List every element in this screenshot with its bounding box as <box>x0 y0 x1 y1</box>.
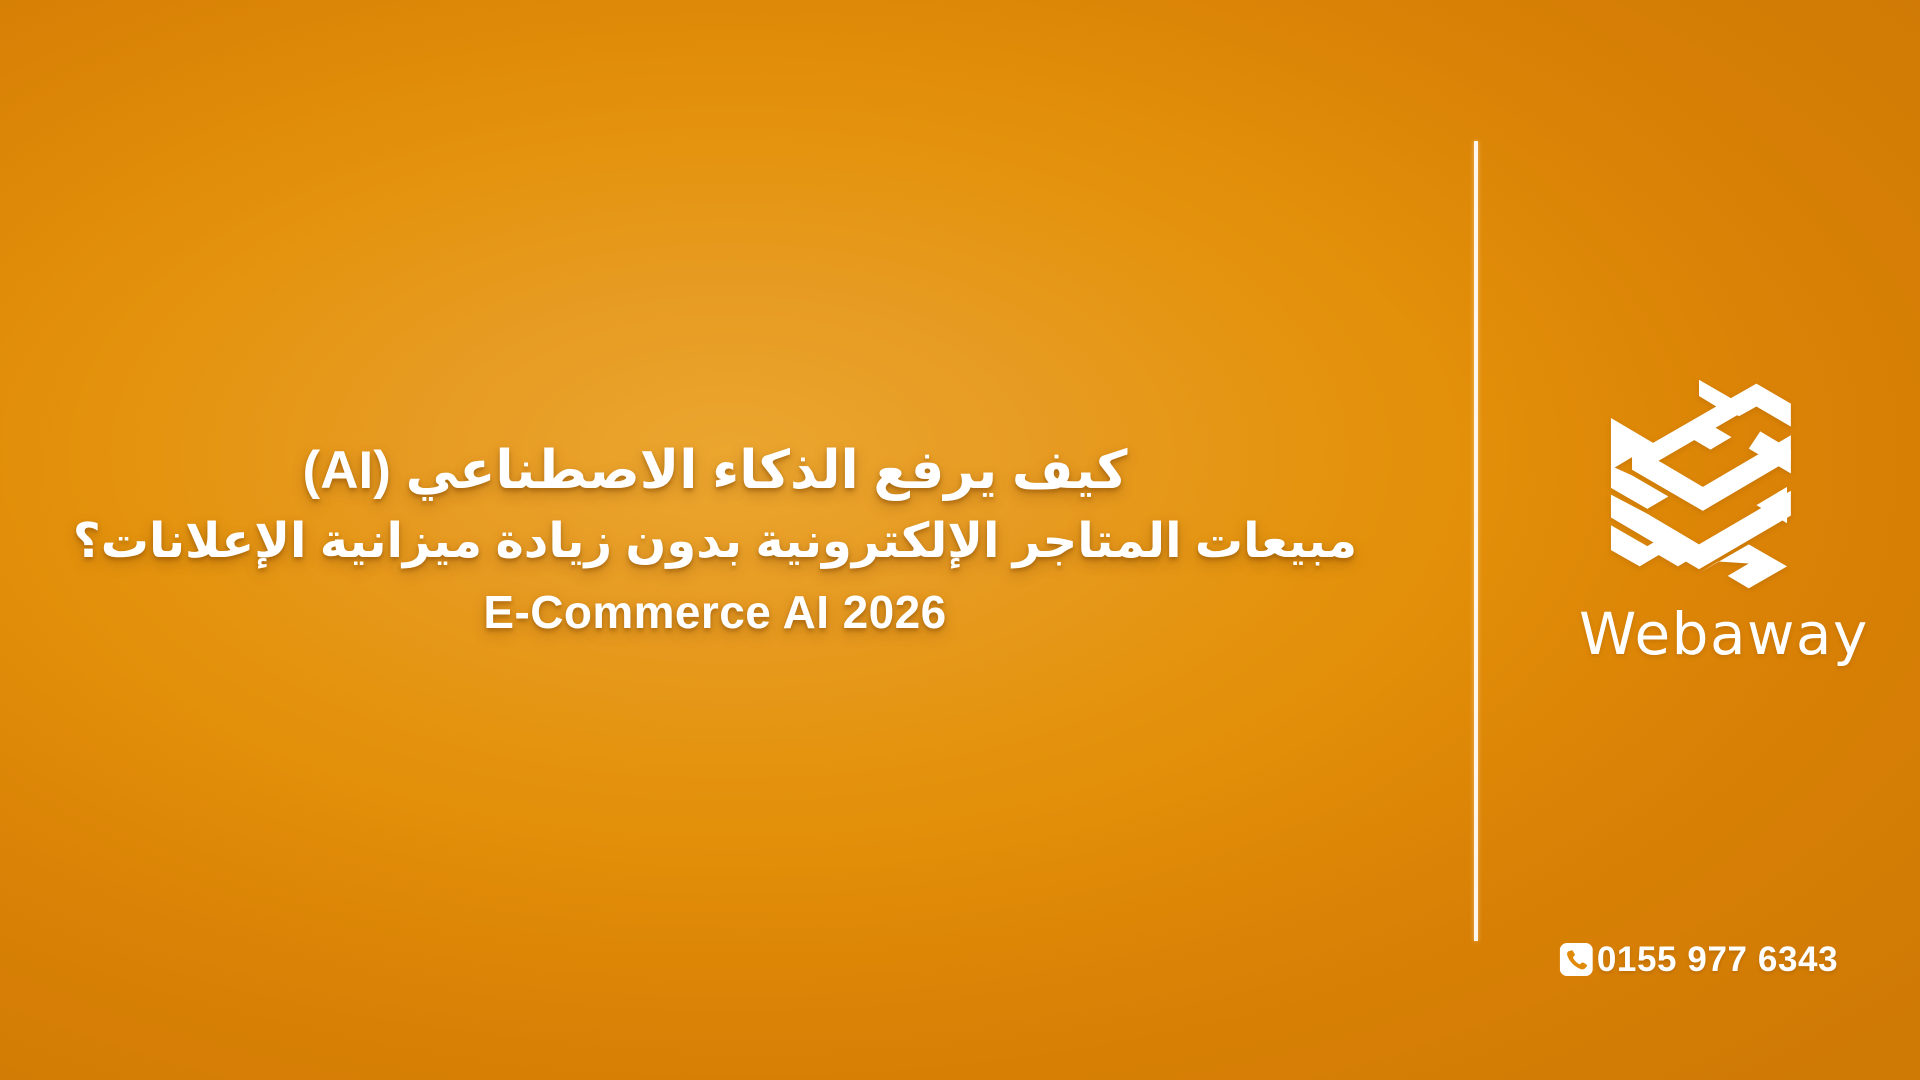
phone-icon <box>1560 943 1593 976</box>
webaway-hexagon-logo-icon <box>1603 374 1795 596</box>
contact-phone-row[interactable]: 0155 977 6343 <box>1560 942 1838 977</box>
headline-line-arabic-2: مبيعات المتاجر الإلكترونية بدون زيادة مي… <box>73 510 1357 573</box>
banner-canvas: كيف يرفع الذكاء الاصطناعي (AI) مبيعات ال… <box>0 0 1920 1080</box>
headline-line-arabic-1: كيف يرفع الذكاء الاصطناعي (AI) <box>303 437 1128 506</box>
logo-lockup: Webaway <box>1579 374 1819 668</box>
headline-block: كيف يرفع الذكاء الاصطناعي (AI) مبيعات ال… <box>0 0 1440 1080</box>
brand-wordmark: Webaway <box>1579 600 1819 668</box>
headline-line-english: E-Commerce AI 2026 <box>483 583 946 643</box>
brand-column: Webaway 0155 977 6343 <box>1478 0 1920 1080</box>
phone-number-text: 0155 977 6343 <box>1597 942 1838 977</box>
